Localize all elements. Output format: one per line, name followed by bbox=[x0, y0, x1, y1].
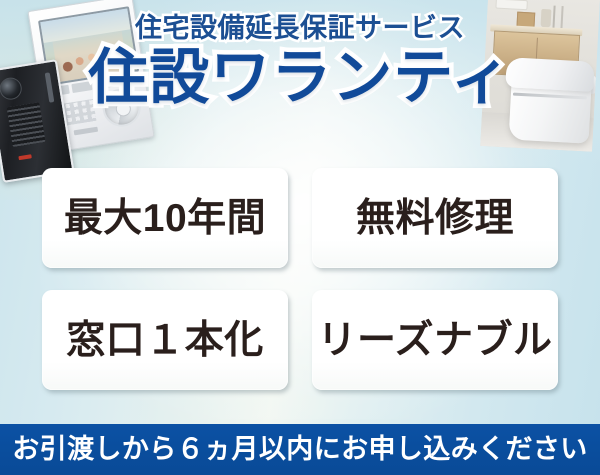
feature-card-reasonable[interactable]: リーズナブル bbox=[312, 290, 558, 390]
feature-card-max-years[interactable]: 最大10年間 bbox=[42, 168, 288, 268]
service-subtitle: 住宅設備延長保証サービス bbox=[0, 14, 600, 42]
intercom-brand-label bbox=[74, 127, 98, 136]
intercom-speaker-grille bbox=[7, 102, 46, 147]
service-title: 住設ワランティ bbox=[0, 48, 600, 108]
bottom-notice-bar: お引渡しから６ヵ月以内にお申し込みください bbox=[0, 424, 600, 475]
feature-card-grid: 最大10年間 無料修理 窓口１本化 リーズナブル bbox=[42, 168, 558, 390]
intercom-call-button bbox=[18, 154, 31, 160]
bottom-notice-text: お引渡しから６ヵ月以内にお申し込みください bbox=[12, 436, 587, 463]
feature-card-label: 無料修理 bbox=[356, 199, 514, 238]
feature-card-free-repair[interactable]: 無料修理 bbox=[312, 168, 558, 268]
feature-card-label: 窓口１本化 bbox=[66, 321, 264, 360]
feature-card-label: リーズナブル bbox=[317, 321, 552, 360]
feature-card-label: 最大10年間 bbox=[64, 199, 266, 238]
wall-vent bbox=[495, 0, 527, 10]
warranty-banner: 住宅設備延長保証サービス 住設ワランティ 最大10年間 無料修理 窓口１本化 リ… bbox=[0, 0, 600, 475]
feature-card-single-contact[interactable]: 窓口１本化 bbox=[42, 290, 288, 390]
headline-block: 住宅設備延長保証サービス 住設ワランティ bbox=[0, 14, 600, 108]
